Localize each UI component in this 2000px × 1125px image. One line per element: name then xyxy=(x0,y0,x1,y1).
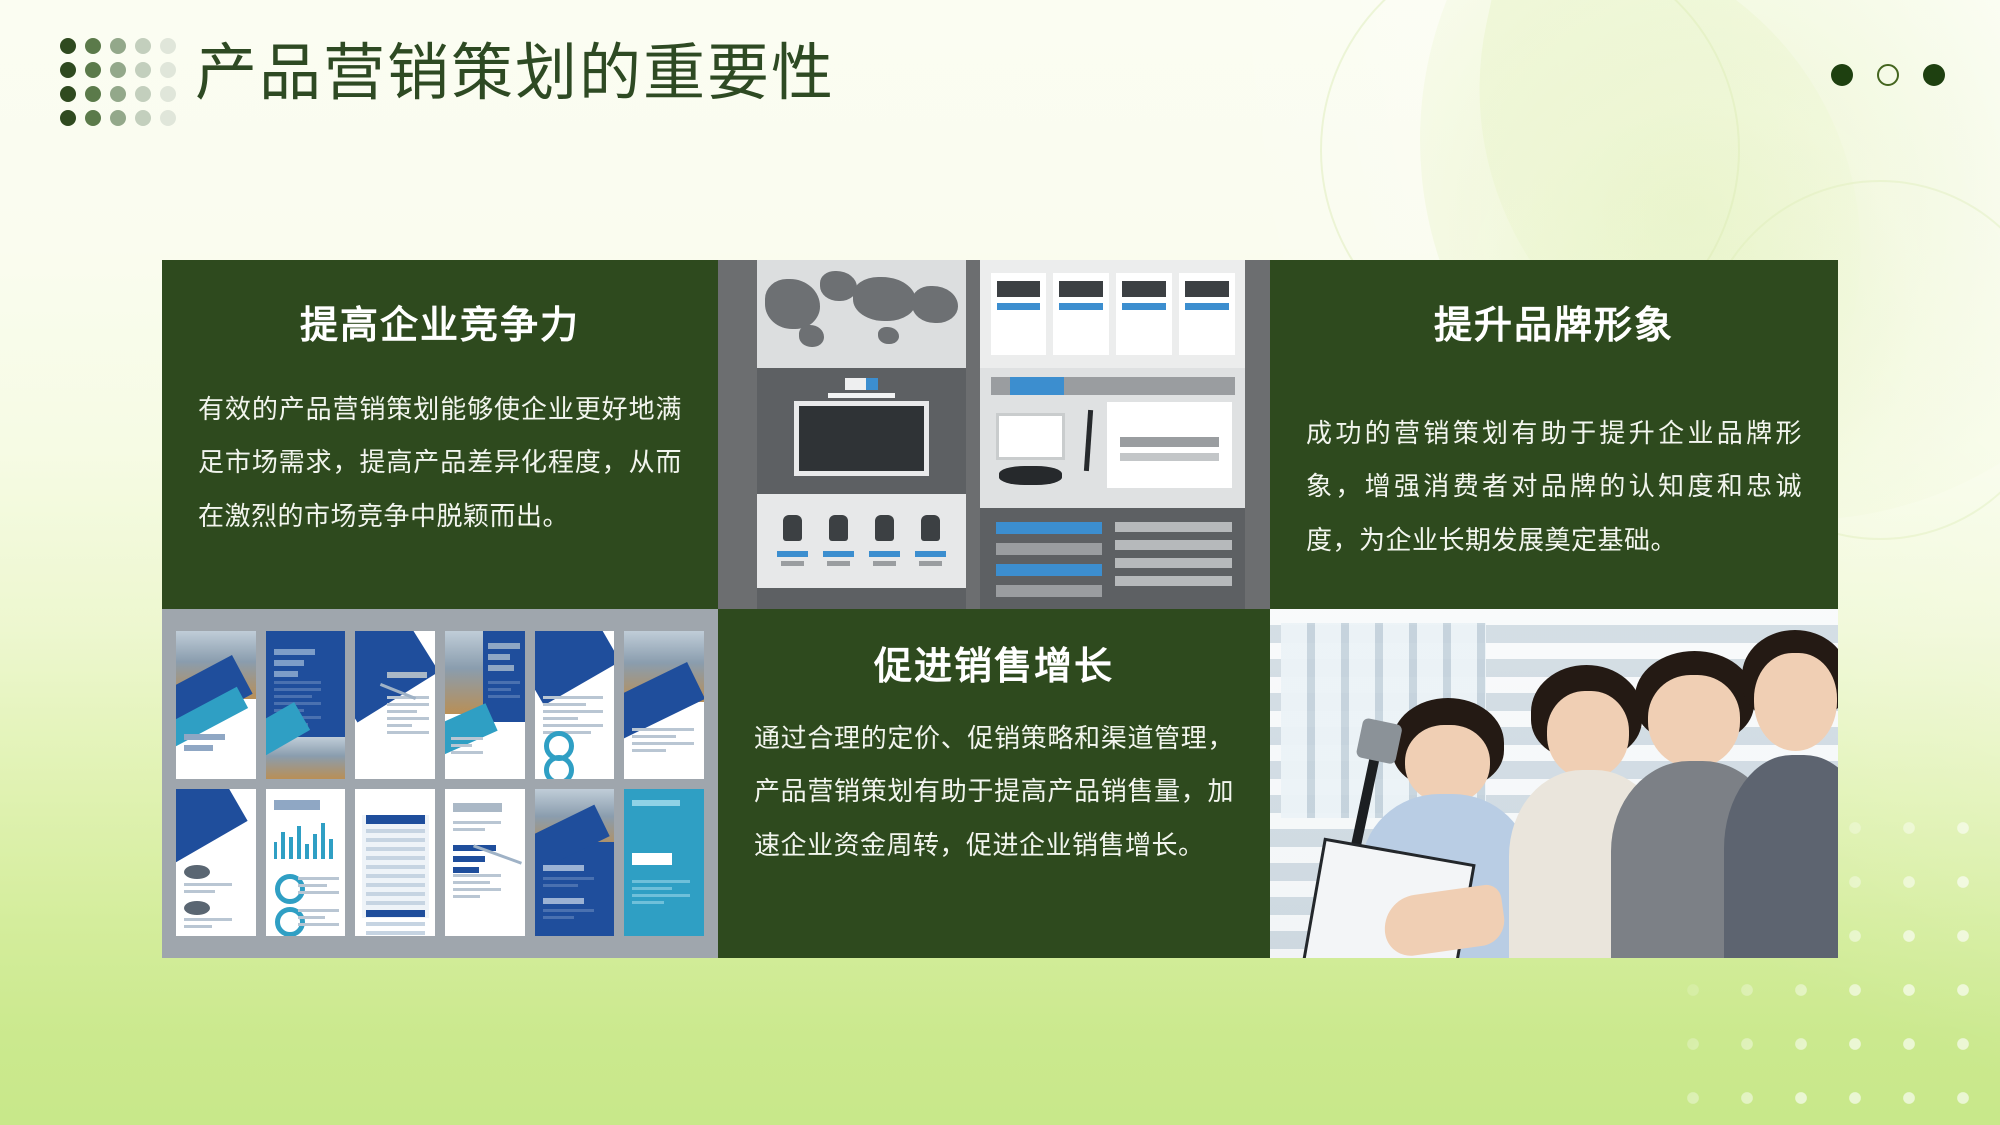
brochure-page xyxy=(355,631,435,779)
card-title: 提升品牌形象 xyxy=(1306,294,1802,349)
brochure-page xyxy=(535,631,615,779)
card-thumbnail-grid xyxy=(980,260,1245,368)
brochure-page xyxy=(176,631,256,779)
stat-icon xyxy=(869,515,900,566)
column-footer xyxy=(757,588,967,609)
dot-grid-cell xyxy=(60,38,76,54)
pagination-dot-1[interactable] xyxy=(1831,64,1853,86)
thumbnail xyxy=(991,273,1047,355)
image-business-team-photo xyxy=(1270,609,1838,958)
stat-icon xyxy=(823,515,854,566)
dot-grid-cell xyxy=(160,110,176,126)
chart-band-icon xyxy=(980,508,1245,609)
thumbnail xyxy=(1053,273,1109,355)
dot-grid-cell xyxy=(110,86,126,102)
card-sales-growth[interactable]: 促进销售增长 通过合理的定价、促销策略和渠道管理，产品营销策划有助于提高产品销售… xyxy=(718,609,1270,958)
slide-pagination[interactable] xyxy=(1831,64,1945,86)
dot-grid-icon xyxy=(60,38,185,134)
slide-header: 产品营销策划的重要性 xyxy=(0,0,2000,170)
dot-grid-cell xyxy=(110,38,126,54)
dot-grid-cell xyxy=(135,86,151,102)
dot-grid-cell xyxy=(110,110,126,126)
image-infographic-mockup xyxy=(718,260,1270,609)
dot-grid-cell xyxy=(60,110,76,126)
card-title: 提高企业竞争力 xyxy=(198,294,682,349)
person-man-navy-tie xyxy=(1724,630,1838,958)
stat-icon xyxy=(777,515,808,566)
page-title: 产品营销策划的重要性 xyxy=(195,36,835,114)
world-map-icon xyxy=(757,260,967,368)
brochure-page xyxy=(535,789,615,937)
card-title: 促进销售增长 xyxy=(754,635,1234,690)
brochure-page xyxy=(624,789,704,937)
card-competitiveness[interactable]: 提高企业竞争力 有效的产品营销策划能够使企业更好地满足市场需求，提高产品差异化程… xyxy=(162,260,718,609)
infographic-right-column xyxy=(980,260,1245,609)
content-grid: 提高企业竞争力 有效的产品营销策划能够使企业更好地满足市场需求，提高产品差异化程… xyxy=(162,260,1838,958)
card-body: 有效的产品营销策划能够使企业更好地满足市场需求，提高产品差异化程度，从而在激烈的… xyxy=(198,383,682,543)
brochure-page xyxy=(176,789,256,937)
brochure-page xyxy=(266,631,346,779)
dot-grid-cell xyxy=(110,62,126,78)
image-brochure-spread xyxy=(162,609,718,958)
dot-grid-cell xyxy=(135,110,151,126)
pagination-dot-3[interactable] xyxy=(1923,64,1945,86)
brochure-page xyxy=(445,631,525,779)
brochure-page xyxy=(624,631,704,779)
brochure-page-grid xyxy=(176,631,704,936)
dot-grid-cell xyxy=(160,86,176,102)
brochure-page xyxy=(355,789,435,937)
dot-grid-cell xyxy=(85,86,101,102)
dot-grid-cell xyxy=(85,62,101,78)
card-body: 成功的营销策划有助于提升企业品牌形象，增强消费者对品牌的认知度和忠诚度，为企业长… xyxy=(1306,407,1802,567)
brochure-page xyxy=(266,789,346,937)
dot-grid-cell xyxy=(85,110,101,126)
desk-flatlay-icon xyxy=(980,368,1245,508)
dot-grid-cell xyxy=(160,62,176,78)
infographic-left-column xyxy=(757,260,967,609)
slide-canvas: 产品营销策划的重要性 提高企业竞争力 有效的产品营销策划能够使企业更好地满足市场… xyxy=(0,0,2000,1125)
pagination-dot-2[interactable] xyxy=(1877,64,1899,86)
dot-grid-cell xyxy=(85,38,101,54)
dot-grid-cell xyxy=(160,38,176,54)
stat-icon xyxy=(915,515,946,566)
thumbnail xyxy=(1179,273,1235,355)
thumbnail xyxy=(1116,273,1172,355)
dot-grid-cell xyxy=(135,62,151,78)
card-brand-image[interactable]: 提升品牌形象 成功的营销策划有助于提升企业品牌形象，增强消费者对品牌的认知度和忠… xyxy=(1270,260,1838,609)
dot-grid-cell xyxy=(60,62,76,78)
card-body: 通过合理的定价、促销策略和渠道管理，产品营销策划有助于提高产品销售量，加速企业资… xyxy=(754,712,1234,872)
brochure-page xyxy=(445,789,525,937)
dot-grid-cell xyxy=(135,38,151,54)
icon-row xyxy=(757,494,967,588)
dot-grid-cell xyxy=(60,86,76,102)
laptop-screen-icon xyxy=(757,368,967,494)
